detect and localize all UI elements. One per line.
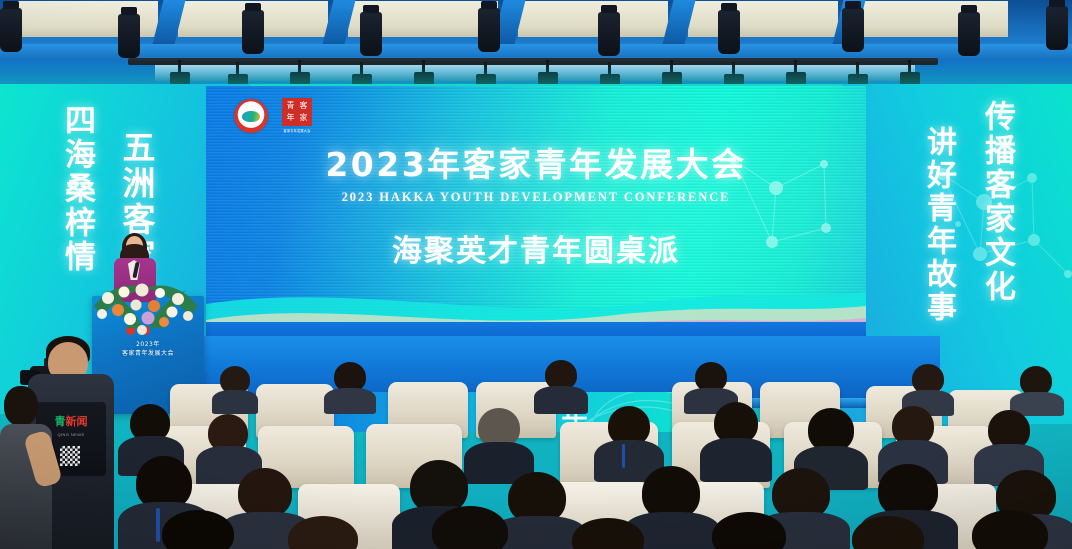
logo-char-1: 青 bbox=[287, 102, 295, 110]
stage-light-icon bbox=[478, 8, 500, 52]
stage-light-icon bbox=[360, 12, 382, 56]
operator-head bbox=[4, 386, 38, 426]
attendee bbox=[470, 408, 528, 482]
logo-caption: 客家青年发展大会 bbox=[282, 128, 312, 133]
qr-code-icon bbox=[60, 446, 80, 466]
stage-light-icon bbox=[718, 10, 740, 54]
hakka-youth-square-logo: 青 客 年 家 客家青年发展大会 bbox=[282, 98, 312, 133]
ceiling bbox=[0, 0, 1072, 92]
attendee-foreground bbox=[276, 516, 370, 549]
press-logo-word: 新闻 bbox=[66, 415, 88, 428]
screen-logo-group: 青 客 年 家 客家青年发展大会 bbox=[234, 98, 312, 133]
banner-right-inner: 讲好青年故事 bbox=[916, 126, 960, 324]
podium-name: 客家青年发展大会 bbox=[122, 350, 174, 357]
audience-area bbox=[0, 360, 1072, 549]
attendee-foreground bbox=[420, 506, 520, 549]
conference-photo-scene: 青 客 年 家 客家青年发展大会 2023年客家青年发展大会 2023 HAKK… bbox=[0, 0, 1072, 549]
attendee-foreground bbox=[560, 518, 656, 549]
banner-right-outer: 传播客家文化 bbox=[975, 100, 1020, 304]
podium-year: 2023年 bbox=[136, 341, 160, 348]
podium-flower-arrangement bbox=[84, 272, 208, 336]
attendee-foreground bbox=[960, 510, 1060, 549]
stage-light-icon bbox=[242, 10, 264, 54]
attendee bbox=[706, 402, 766, 480]
ceiling-panels bbox=[0, 0, 1072, 46]
led-network-pattern-icon bbox=[720, 138, 860, 288]
stage-light-icon bbox=[958, 12, 980, 56]
press-operator-secondary bbox=[0, 380, 52, 549]
stage-light-icon bbox=[0, 8, 22, 52]
stage-light-icon bbox=[1046, 6, 1068, 50]
stage-light-icon bbox=[598, 12, 620, 56]
attendee-foreground bbox=[840, 516, 936, 549]
logo-char-3: 年 bbox=[287, 114, 295, 122]
stage-light-icon bbox=[842, 8, 864, 52]
led-stage-screen: 青 客 年 家 客家青年发展大会 2023年客家青年发展大会 2023 HAKK… bbox=[206, 86, 866, 344]
attendee-foreground bbox=[700, 512, 798, 549]
logo-char-4: 家 bbox=[300, 114, 308, 122]
press-logo-char: 青 bbox=[55, 415, 66, 428]
logo-char-2: 客 bbox=[300, 102, 308, 110]
banner-left-outer: 四海桑梓情 bbox=[55, 104, 100, 274]
attendee bbox=[216, 366, 254, 412]
attendee bbox=[540, 360, 582, 412]
attendee bbox=[330, 362, 370, 412]
circular-emblem-logo-icon bbox=[234, 99, 268, 133]
stage-light-icon bbox=[118, 14, 140, 58]
attendee bbox=[1016, 366, 1058, 414]
attendee-foreground bbox=[150, 510, 246, 549]
